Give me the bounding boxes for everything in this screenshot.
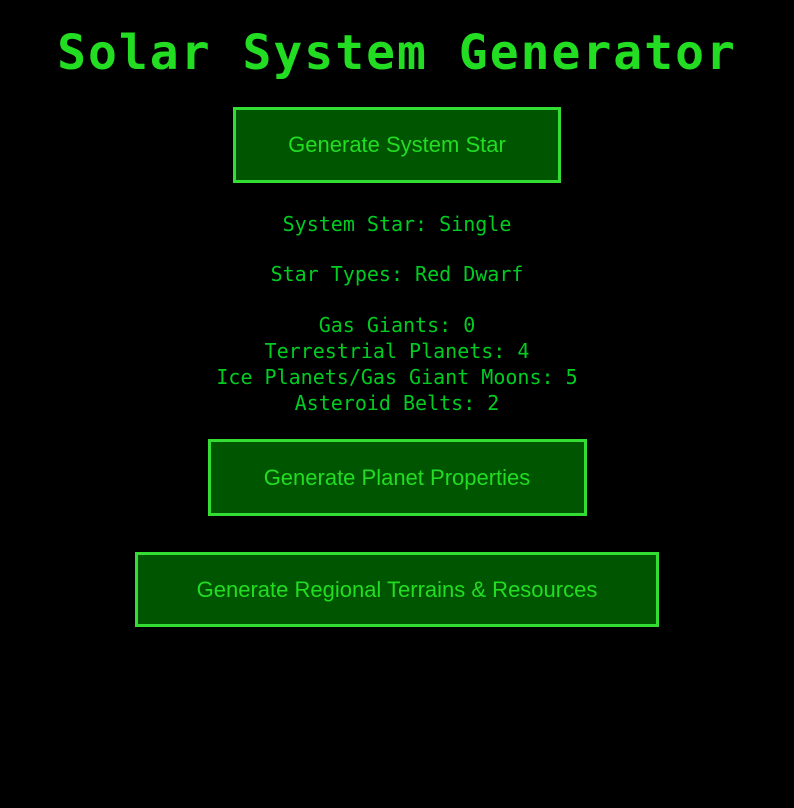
terrestrial-planets-count: Terrestrial Planets: 4 [265, 341, 530, 361]
gas-giants-count: Gas Giants: 0 [319, 315, 476, 335]
page-title: Solar System Generator [57, 28, 737, 78]
solar-system-generator-app: Solar System Generator Generate System S… [0, 0, 794, 808]
generate-system-star-button[interactable]: Generate System Star [233, 107, 561, 183]
ice-planets-moons-count: Ice Planets/Gas Giant Moons: 5 [216, 367, 577, 387]
planet-counts-block: Gas Giants: 0 Terrestrial Planets: 4 Ice… [216, 315, 577, 413]
system-star-readout: System Star: Single [283, 214, 512, 234]
asteroid-belts-count: Asteroid Belts: 2 [295, 393, 500, 413]
generate-regional-terrains-button[interactable]: Generate Regional Terrains & Resources [135, 552, 659, 627]
star-types-readout: Star Types: Red Dwarf [271, 264, 524, 284]
generate-planet-properties-button[interactable]: Generate Planet Properties [208, 439, 587, 516]
